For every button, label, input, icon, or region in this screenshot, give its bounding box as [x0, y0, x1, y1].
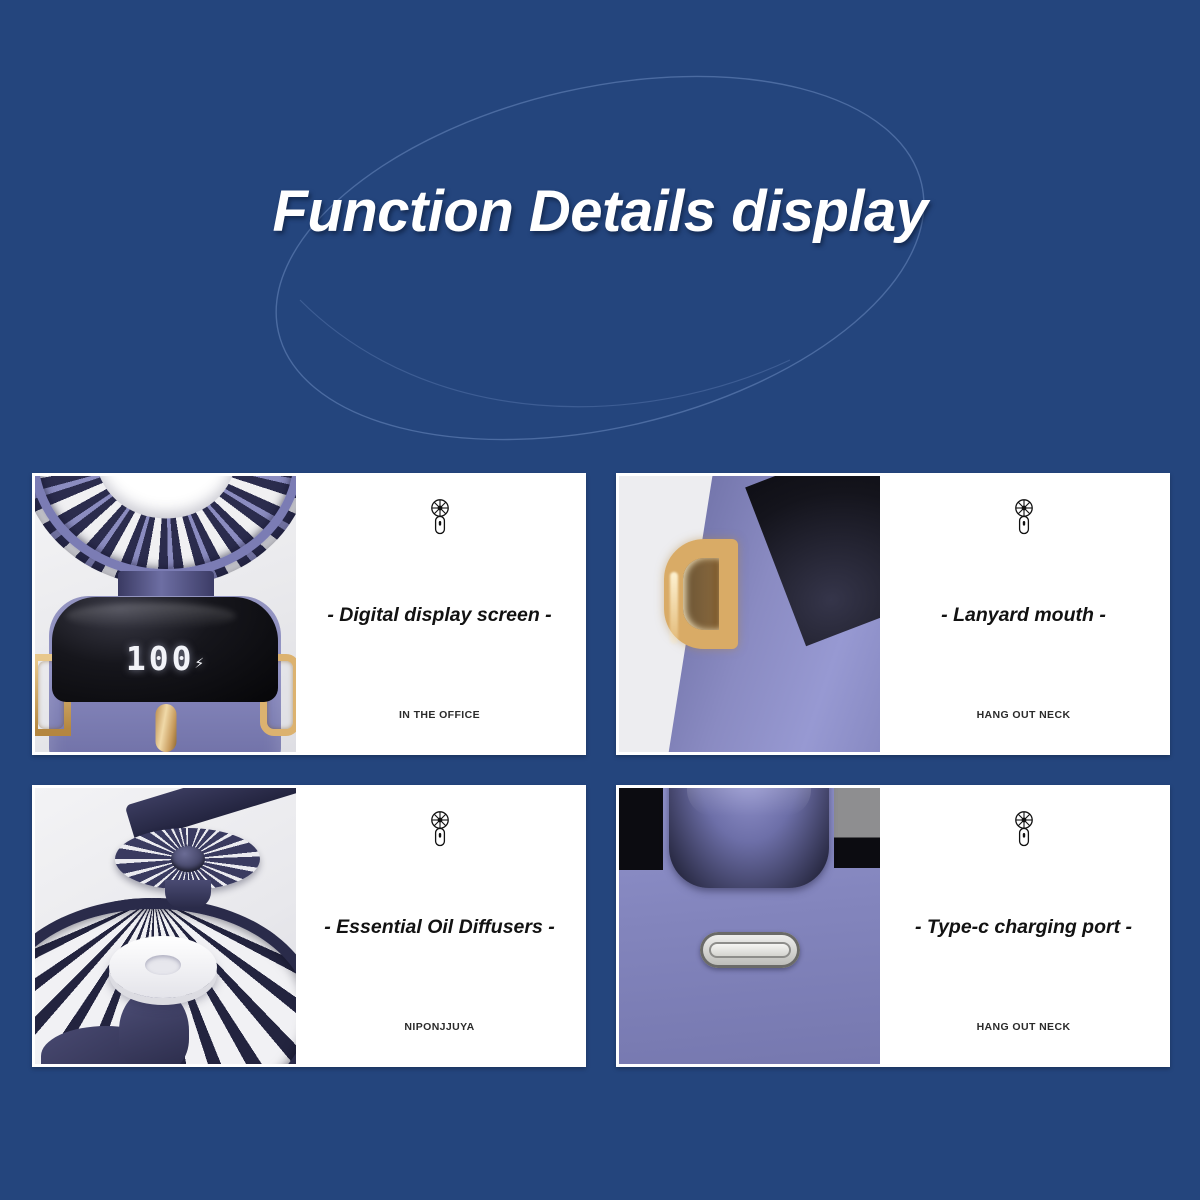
product-photo-digital-display-screen: 100⚡ [35, 476, 296, 752]
fan-cage-center [96, 476, 236, 519]
feature-subtitle: HANG OUT NECK [880, 709, 1167, 721]
product-photo-type-c-charging-port [619, 788, 880, 1064]
product-photo-lanyard-mouth [619, 476, 880, 752]
product-detail-page: Function Details display 100⚡ [0, 0, 1200, 1200]
feature-subtitle: IN THE OFFICE [296, 709, 583, 721]
handheld-fan-icon [880, 810, 1167, 857]
page-title: Function Details display [0, 178, 1200, 245]
feature-title: - Essential Oil Diffusers - [296, 916, 583, 939]
feature-title: - Digital display screen - [296, 604, 583, 627]
feature-card-type-c-charging-port[interactable]: - Type-c charging port - HANG OUT NECK [616, 785, 1170, 1067]
feature-title: - Lanyard mouth - [880, 604, 1167, 627]
led-readout: 100⚡ [52, 639, 278, 678]
feature-info-panel: - Lanyard mouth - HANG OUT NECK [880, 476, 1167, 752]
feature-info-panel: - Type-c charging port - HANG OUT NECK [880, 788, 1167, 1064]
feature-info-panel: - Digital display screen - IN THE OFFICE [296, 476, 583, 752]
handheld-fan-icon [296, 810, 583, 857]
gold-lanyard-loop [664, 539, 738, 649]
feature-card-essential-oil-diffusers[interactable]: - Essential Oil Diffusers - NIPONJJUYA [32, 785, 586, 1067]
feature-title: - Type-c charging port - [880, 916, 1167, 939]
power-button [155, 704, 176, 752]
backdrop-shadow-left [619, 788, 663, 870]
backdrop-shadow-right [834, 788, 880, 868]
led-value: 100 [126, 639, 195, 678]
diffuser-pad [109, 936, 217, 998]
feature-card-lanyard-mouth[interactable]: - Lanyard mouth - HANG OUT NECK [616, 473, 1170, 755]
fan-blade [119, 988, 189, 1064]
feature-subtitle: HANG OUT NECK [880, 1021, 1167, 1033]
product-photo-essential-oil-diffusers [35, 788, 296, 1064]
led-charging-bolt-icon: ⚡ [194, 653, 204, 672]
feature-info-panel: - Essential Oil Diffusers - NIPONJJUYA [296, 788, 583, 1064]
usb-type-c-port [700, 932, 800, 968]
feature-card-digital-display-screen[interactable]: 100⚡ [32, 473, 586, 755]
fan-hinge [669, 788, 829, 888]
feature-card-grid: 100⚡ [32, 473, 1170, 1067]
handheld-fan-icon [880, 498, 1167, 545]
handheld-fan-icon [296, 498, 583, 545]
feature-subtitle: NIPONJJUYA [296, 1021, 583, 1033]
digital-screen: 100⚡ [52, 597, 278, 702]
diffuser-hub [165, 880, 211, 908]
